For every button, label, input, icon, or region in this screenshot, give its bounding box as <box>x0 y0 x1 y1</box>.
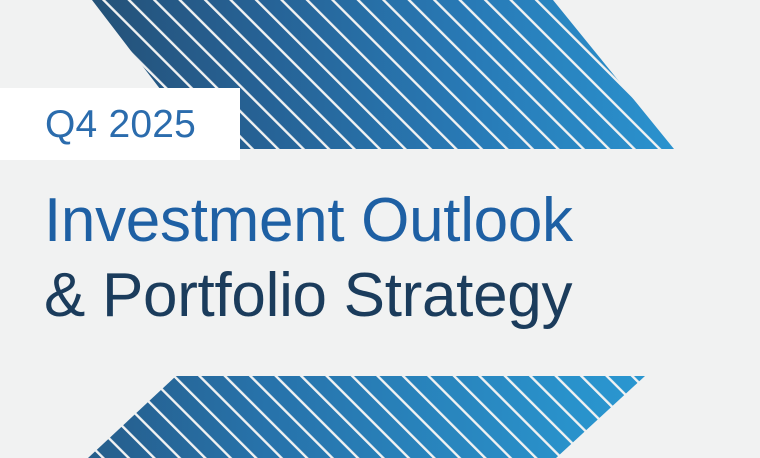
page-title: Investment Outlook & Portfolio Strategy <box>44 183 744 333</box>
eyebrow-label: Q4 2025 <box>45 99 245 151</box>
page-title-line-1: Investment Outlook <box>44 183 744 258</box>
page-title-line-2: & Portfolio Strategy <box>44 258 744 333</box>
cover-slide: Q4 2025 Investment Outlook & Portfolio S… <box>0 0 760 458</box>
